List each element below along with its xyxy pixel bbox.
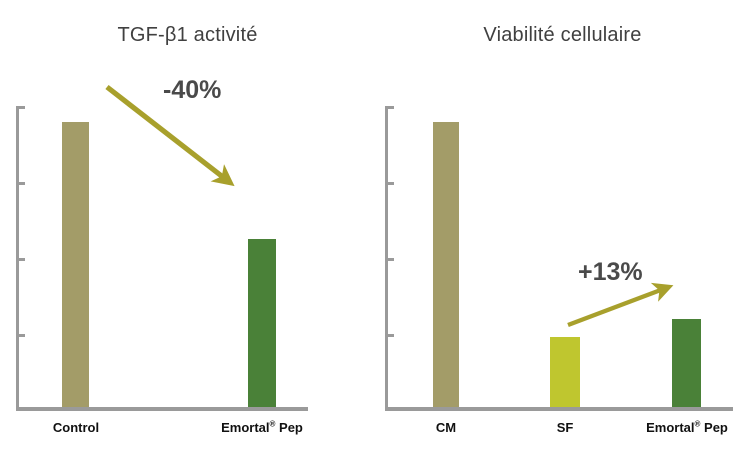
x-label-tail: Pep (700, 420, 727, 435)
y-axis-tick (385, 334, 394, 337)
x-label-text: SF (557, 420, 574, 435)
x-axis-right (385, 407, 733, 411)
bar-cm[interactable] (433, 122, 459, 407)
x-axis-left (16, 407, 308, 411)
y-axis-tick (16, 334, 25, 337)
chart-panel-cell-viability: Viabilité cellulaire CM SF Emortal® Pep … (375, 0, 750, 463)
x-label-text: Emortal (646, 420, 694, 435)
x-label-emortal-pep: Emortal® Pep (221, 420, 303, 435)
y-axis-tick (385, 106, 394, 109)
x-label-sf: SF (557, 420, 574, 435)
x-label-text: Control (53, 420, 99, 435)
bar-emortal-pep[interactable] (672, 319, 701, 407)
y-axis-tick (385, 182, 394, 185)
y-axis-tick (385, 258, 394, 261)
chart-panel-tgf-beta1: TGF-β1 activité Control Emortal® Pep -40… (0, 0, 375, 463)
annotation-delta-left: -40% (163, 76, 221, 105)
chart-title-right: Viabilité cellulaire (375, 24, 750, 47)
x-label-text: CM (436, 420, 456, 435)
y-axis-tick (16, 258, 25, 261)
bar-emortal-pep[interactable] (248, 239, 276, 407)
arrow-down-right-icon (0, 0, 375, 463)
bar-sf[interactable] (550, 337, 580, 407)
x-label-cm: CM (436, 420, 456, 435)
bar-control[interactable] (62, 122, 89, 407)
x-label-text: Emortal (221, 420, 269, 435)
y-axis-tick (16, 106, 25, 109)
y-axis-tick (16, 182, 25, 185)
figure-canvas: TGF-β1 activité Control Emortal® Pep -40… (0, 0, 750, 463)
x-label-tail: Pep (275, 420, 302, 435)
x-label-control: Control (53, 420, 99, 435)
x-label-emortal-pep: Emortal® Pep (646, 420, 728, 435)
annotation-delta-right: +13% (578, 258, 643, 287)
chart-title-left: TGF-β1 activité (0, 24, 375, 47)
